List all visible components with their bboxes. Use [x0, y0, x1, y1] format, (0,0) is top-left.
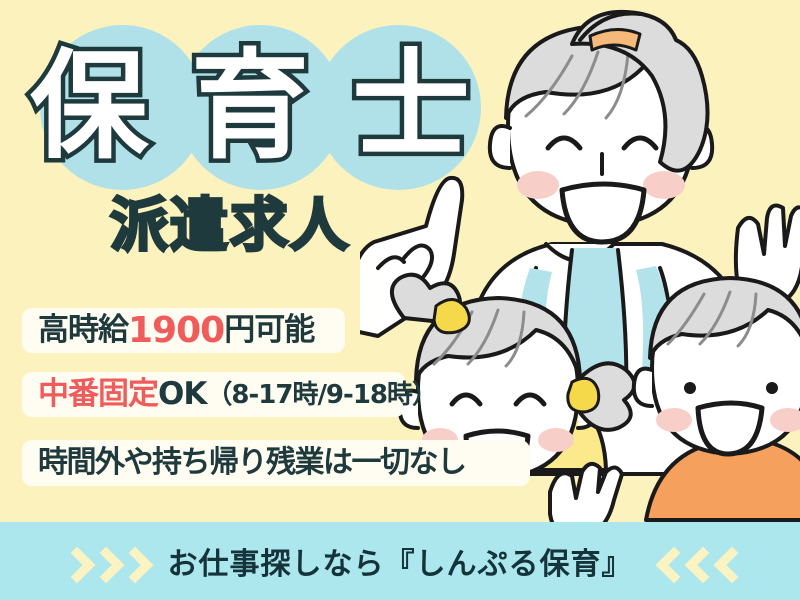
headline-char-2: 育 — [191, 47, 309, 165]
feature-1-wage-amount: 1900 — [128, 313, 224, 349]
chevron-left-icon — [655, 544, 681, 578]
chevron-left-icon — [713, 544, 739, 578]
feature-1-part-1: 高時給 — [38, 315, 128, 346]
poster-canvas: 保 育 士 派遣求人 高時給 1900 円可能 中番固定 OK （8-17時/9… — [0, 0, 800, 600]
banner-tagline: お仕事探しなら『しんぷる保育』 — [168, 539, 633, 583]
feature-2-part-1: 中番固定 — [38, 379, 158, 410]
chevron-right-icon — [91, 544, 117, 578]
chevron-left-icon — [684, 544, 710, 578]
feature-3-part-1: 時間外や持ち帰り残業は一切なし — [38, 448, 466, 478]
chevron-right-icon — [120, 544, 146, 578]
chevrons-right-pointing — [62, 544, 146, 578]
feature-1-part-3: 円可能 — [224, 315, 314, 346]
page-title: 保 育 士 — [30, 36, 470, 176]
feature-fixed-middle-shift: 中番固定 OK （8-17時/9-18時） — [22, 372, 405, 417]
boy-child — [634, 278, 800, 520]
feature-no-overtime: 時間外や持ち帰り残業は一切なし — [22, 440, 530, 486]
chevron-right-icon — [62, 544, 88, 578]
page-subtitle: 派遣求人 — [110, 196, 350, 254]
headline-char-3: 士 — [352, 47, 470, 165]
feature-2-part-2: OK — [158, 379, 206, 410]
feature-hourly-wage: 高時給 1900 円可能 — [22, 308, 345, 353]
feature-2-shift-hours: （8-17時/9-18時） — [206, 382, 437, 408]
headline-char-1: 保 — [30, 47, 148, 165]
chevrons-left-pointing — [655, 544, 739, 578]
bottom-banner: お仕事探しなら『しんぷる保育』 — [0, 522, 800, 600]
